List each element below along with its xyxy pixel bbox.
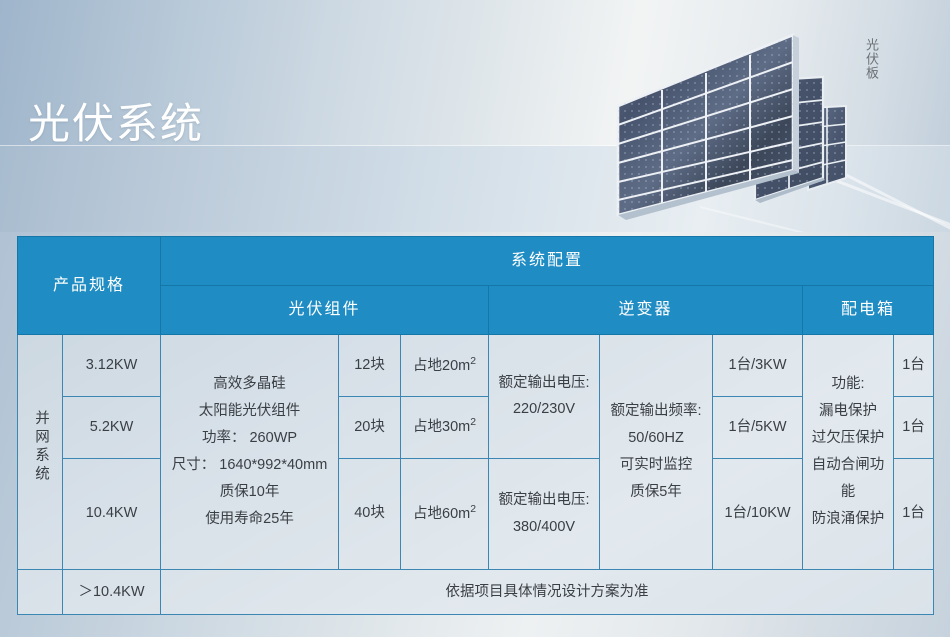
cell-frequency-block: 额定输出频率: 50/60HZ 可实时监控 质保5年 xyxy=(600,334,713,569)
cell-area-3: 占地60m2 xyxy=(401,458,489,569)
cell-module-count-1: 12块 xyxy=(339,334,401,396)
table-row: 10.4KW 40块 占地60m2 额定输出电压: 380/400V 1台/10… xyxy=(18,458,934,569)
voltage-label: 额定输出电压: xyxy=(492,487,596,514)
area-text: 占地20m xyxy=(413,357,470,373)
module-desc-line: 质保10年 xyxy=(164,479,335,506)
solar-panels-svg xyxy=(580,10,950,232)
frequency-line: 可实时监控 xyxy=(603,452,709,479)
cell-box-count-2: 1台 xyxy=(894,396,934,458)
header-pv-module: 光伏组件 xyxy=(161,285,489,334)
cell-module-count-3: 40块 xyxy=(339,458,401,569)
hero-banner: 光伏系统 光伏板 xyxy=(0,0,950,232)
frequency-line: 50/60HZ xyxy=(603,425,709,452)
frequency-line: 额定输出频率: xyxy=(603,398,709,425)
spec-table: 产品规格 系统配置 光伏组件 逆变器 配电箱 并网系统 3.12KW 高效多晶硅… xyxy=(17,236,934,615)
module-desc-line: 尺寸： 1640*992*40mm xyxy=(164,452,335,479)
voltage-value: 220/230V xyxy=(492,396,596,423)
cell-box-functions: 功能: 漏电保护 过欠压保护 自动合闸功能 防浪涌保护 xyxy=(803,334,894,569)
header-system-config: 系统配置 xyxy=(161,237,934,286)
cell-area-2: 占地30m2 xyxy=(401,396,489,458)
table-row: 并网系统 3.12KW 高效多晶硅 太阳能光伏组件 功率： 260WP 尺寸： … xyxy=(18,334,934,396)
box-function-line: 功能: xyxy=(806,371,890,398)
table-row-note: ＞10.4KW 依据项目具体情况设计方案为准 xyxy=(18,569,934,614)
cell-box-count-1: 1台 xyxy=(894,334,934,396)
solar-array-illustration xyxy=(580,10,950,232)
header-distribution-box: 配电箱 xyxy=(803,285,934,334)
box-function-line: 防浪涌保护 xyxy=(806,506,890,533)
table-header-row-1: 产品规格 系统配置 xyxy=(18,237,934,286)
header-product-spec: 产品规格 xyxy=(18,237,161,335)
system-type-text: 并网系统 xyxy=(32,410,48,484)
cell-area-1: 占地20m2 xyxy=(401,334,489,396)
area-sup: 2 xyxy=(470,417,476,428)
cell-empty-system-type xyxy=(18,569,63,614)
spec-table-container: 产品规格 系统配置 光伏组件 逆变器 配电箱 并网系统 3.12KW 高效多晶硅… xyxy=(17,236,933,615)
cell-inverter-unit-3: 1台/10KW xyxy=(713,458,803,569)
cell-capacity-1: 3.12KW xyxy=(63,334,161,396)
cell-capacity-3: 10.4KW xyxy=(63,458,161,569)
cell-box-count-3: 1台 xyxy=(894,458,934,569)
table-row: 5.2KW 20块 占地30m2 1台/5KW 1台 xyxy=(18,396,934,458)
panel-caption-label: 光伏板 xyxy=(860,38,882,80)
box-function-line: 漏电保护 xyxy=(806,398,890,425)
area-text: 占地60m xyxy=(413,506,470,522)
cell-design-note: 依据项目具体情况设计方案为准 xyxy=(161,569,934,614)
header-inverter: 逆变器 xyxy=(489,285,803,334)
page-title: 光伏系统 xyxy=(28,90,204,151)
voltage-label: 额定输出电压: xyxy=(492,370,596,397)
cell-system-type: 并网系统 xyxy=(18,334,63,569)
cell-voltage-top: 额定输出电压: 220/230V xyxy=(489,334,600,458)
cell-capacity-4: ＞10.4KW xyxy=(63,569,161,614)
module-desc-line: 高效多晶硅 xyxy=(164,371,335,398)
module-desc-line: 功率： 260WP xyxy=(164,425,335,452)
voltage-value: 380/400V xyxy=(492,514,596,541)
box-function-line: 过欠压保护 xyxy=(806,425,890,452)
frequency-line: 质保5年 xyxy=(603,479,709,506)
cell-capacity-2: 5.2KW xyxy=(63,396,161,458)
box-function-line: 自动合闸功能 xyxy=(806,452,890,506)
area-sup: 2 xyxy=(470,356,476,367)
cell-voltage-bottom: 额定输出电压: 380/400V xyxy=(489,458,600,569)
module-desc-line: 太阳能光伏组件 xyxy=(164,398,335,425)
cell-module-count-2: 20块 xyxy=(339,396,401,458)
cell-module-description: 高效多晶硅 太阳能光伏组件 功率： 260WP 尺寸： 1640*992*40m… xyxy=(161,334,339,569)
cell-inverter-unit-1: 1台/3KW xyxy=(713,334,803,396)
area-text: 占地30m xyxy=(413,419,470,435)
area-sup: 2 xyxy=(470,504,476,515)
cell-inverter-unit-2: 1台/5KW xyxy=(713,396,803,458)
slide-root: 光伏系统 光伏板 产品规格 系统配置 xyxy=(0,0,950,637)
module-desc-line: 使用寿命25年 xyxy=(164,506,335,533)
